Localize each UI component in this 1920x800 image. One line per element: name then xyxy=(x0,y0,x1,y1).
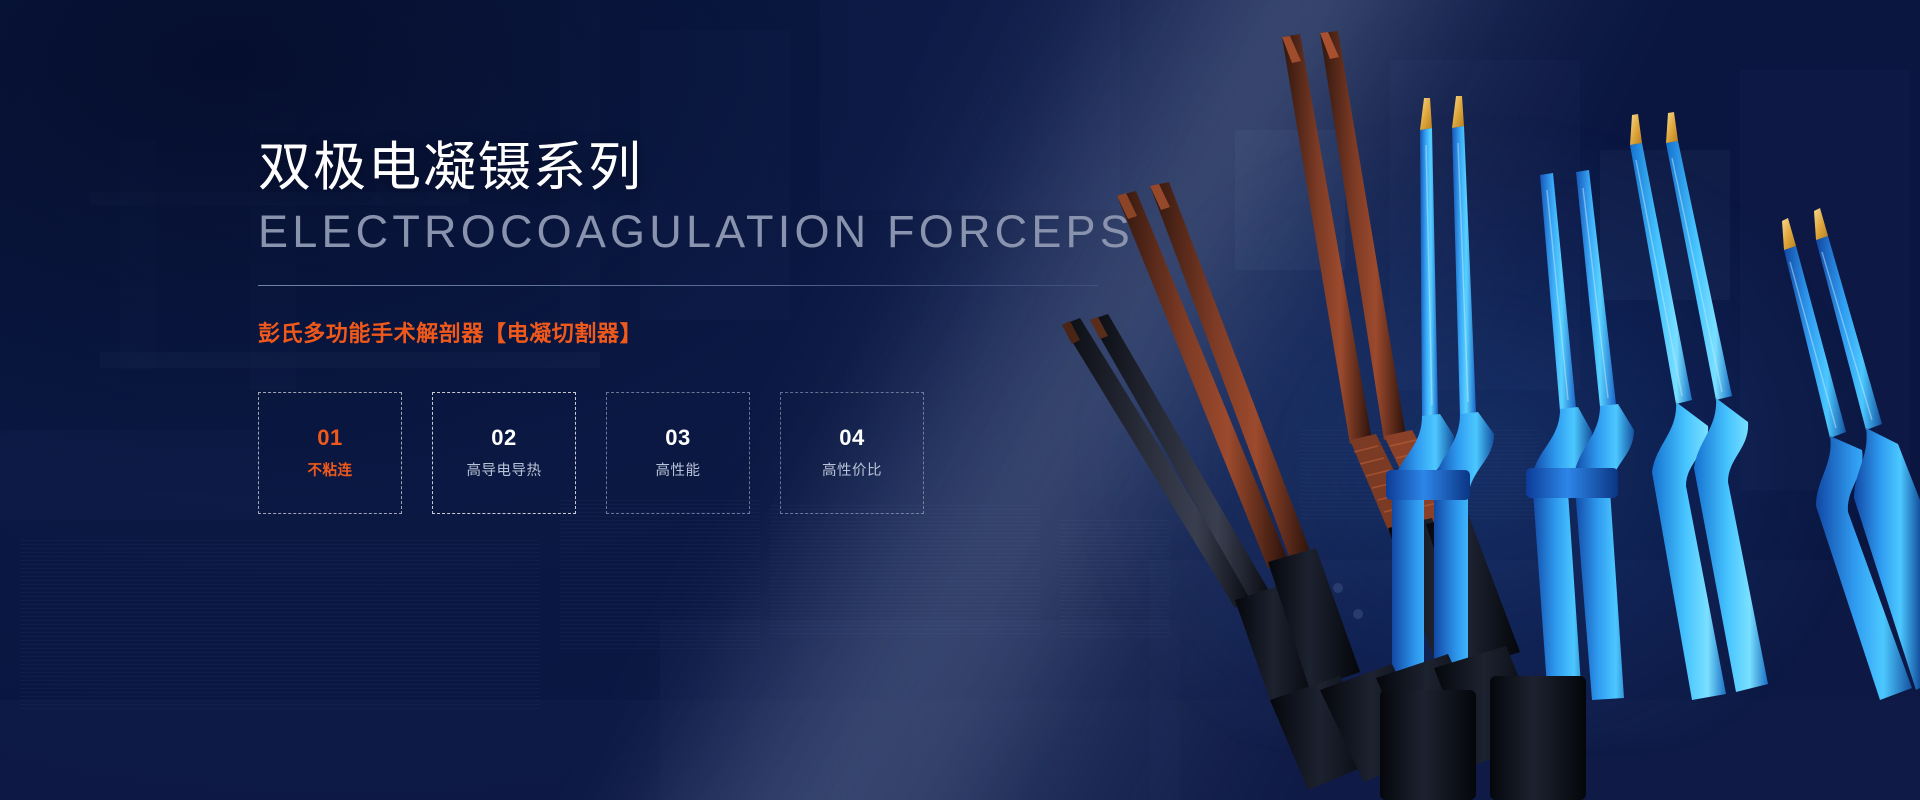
feature-number: 01 xyxy=(317,427,342,449)
feature-label: 高性能 xyxy=(656,464,701,479)
forceps-handle-base xyxy=(1270,646,1586,800)
feature-box-03[interactable]: 03 高性能 xyxy=(606,392,750,514)
product-glow xyxy=(1080,120,1860,740)
product-tagline: 彭氏多功能手术解剖器【电凝切割器】 xyxy=(258,316,1118,348)
feature-box-01[interactable]: 01 不粘连 xyxy=(258,392,402,514)
feature-label: 高性价比 xyxy=(822,464,882,479)
page-subtitle-english: ELECTROCOAGULATION FORCEPS xyxy=(258,208,1118,257)
forceps-blue-group xyxy=(1386,96,1920,700)
feature-number: 03 xyxy=(665,427,690,449)
feature-box-02[interactable]: 02 高导电导热 xyxy=(432,392,576,514)
feature-label: 高导电导热 xyxy=(467,464,542,479)
divider xyxy=(258,285,1098,286)
page-title: 双极电凝镊系列 xyxy=(258,138,1118,197)
feature-number: 04 xyxy=(839,427,864,449)
feature-label: 不粘连 xyxy=(308,464,353,479)
banner-content: 双极电凝镊系列 ELECTROCOAGULATION FORCEPS 彭氏多功能… xyxy=(258,138,1118,514)
forceps-bronze-group xyxy=(1062,31,1520,706)
feature-number: 02 xyxy=(491,427,516,449)
product-banner: 双极电凝镊系列 ELECTROCOAGULATION FORCEPS 彭氏多功能… xyxy=(0,0,1920,800)
product-image-forceps-fan xyxy=(1020,0,1920,800)
feature-box-04[interactable]: 04 高性价比 xyxy=(780,392,924,514)
feature-list: 01 不粘连 02 高导电导热 03 高性能 04 高性价比 xyxy=(258,392,1118,514)
